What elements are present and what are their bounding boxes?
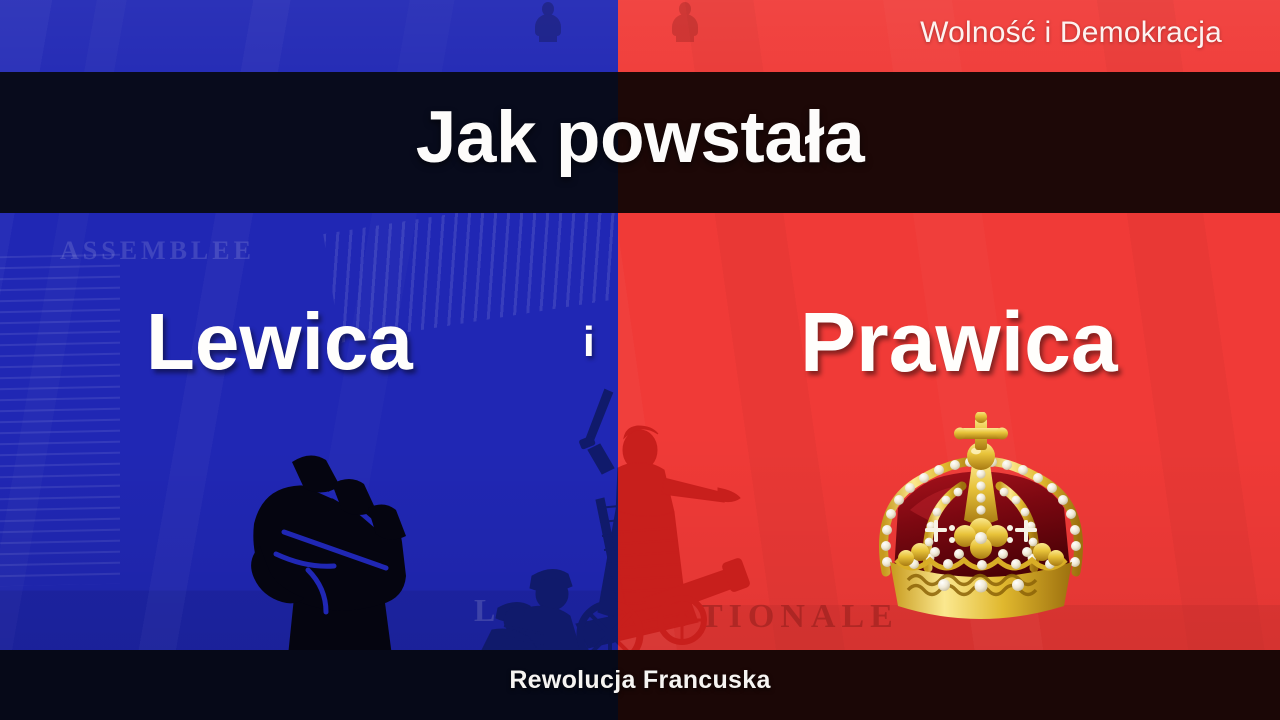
statue-bust-icon-secondary: [672, 2, 698, 46]
page-title: Jak powstała: [0, 96, 1280, 179]
left-panel-label: Lewica: [146, 296, 413, 388]
liberty-leading-the-people-engraving-icon: [468, 382, 768, 650]
engraving-left-half: [482, 390, 751, 650]
kicker-text: Wolność i Demokracja: [920, 16, 1222, 50]
statue-bust-icon: [535, 2, 561, 46]
royal-crown-icon: [856, 412, 1106, 624]
conjunction-label: i: [583, 318, 595, 366]
thumbnail-canvas: ASSEMBLEE L TIONALE: [0, 0, 1280, 720]
raised-fist-icon: [236, 428, 446, 656]
background-faint-text-top: ASSEMBLEE: [60, 236, 255, 266]
right-panel-label: Prawica: [800, 294, 1118, 391]
left-background-document-texture: [0, 254, 120, 587]
footer-caption: Rewolucja Francuska: [0, 666, 1280, 695]
crown-cross-icon: [954, 412, 1008, 450]
